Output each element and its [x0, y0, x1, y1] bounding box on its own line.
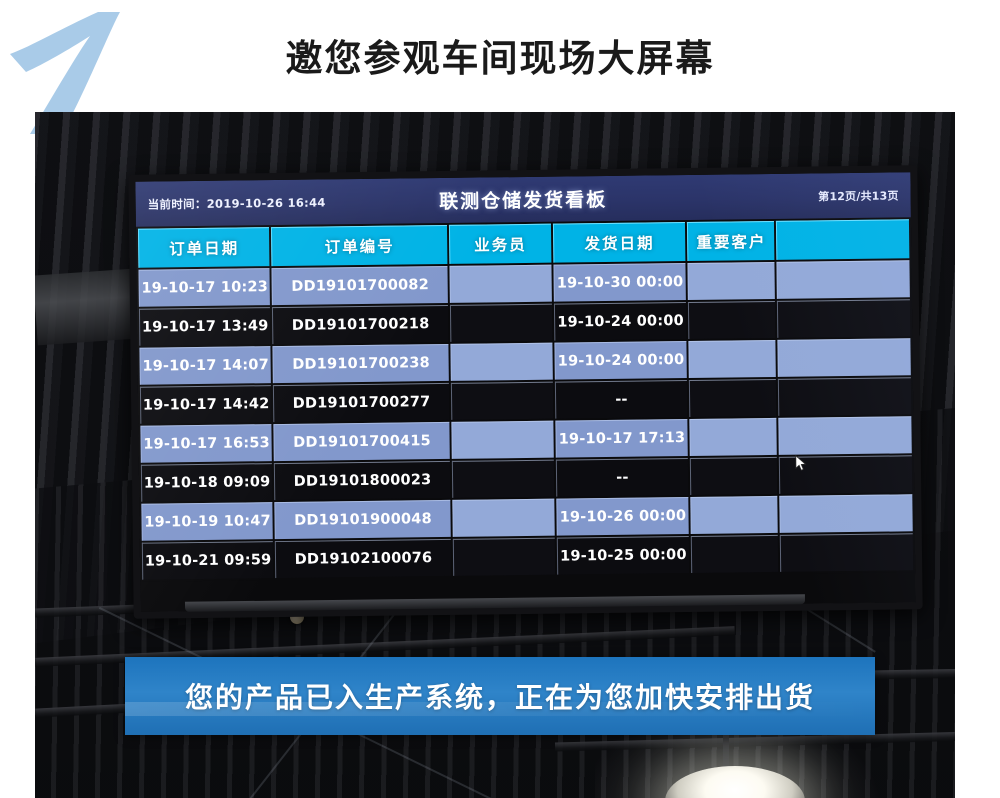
dashboard-header: 当前时间：2019-10-26 16:44 联测仓储发货看板 第12页/共13页 [135, 172, 910, 226]
mouse-cursor-icon [795, 455, 807, 472]
ceiling-lamp [645, 732, 825, 798]
cell-order-date: 19-10-17 16:53 [140, 424, 272, 463]
cell-salesperson [453, 538, 555, 576]
cell-order-no: DD19101700238 [272, 344, 448, 383]
column-header-ship-date[interactable]: 发货日期 [553, 222, 686, 263]
cell-order-date: 19-10-17 10:23 [138, 268, 270, 307]
cell-key-customer [691, 496, 779, 534]
cell-order-no: DD19101700082 [272, 266, 448, 305]
pagination-label: 第12页/共13页 [818, 187, 899, 204]
cell-key-customer [690, 457, 778, 495]
cell-salesperson [449, 265, 551, 303]
wall-mounted-tv: 当前时间：2019-10-26 16:44 联测仓储发货看板 第12页/共13页… [128, 165, 922, 619]
cell-salesperson [451, 421, 553, 459]
cell-extra [778, 377, 911, 416]
cell-order-no: DD19102100076 [275, 539, 451, 578]
column-header-extra[interactable] [776, 219, 909, 260]
column-header-key-customer[interactable]: 重要客户 [687, 221, 775, 261]
cell-extra [780, 533, 913, 572]
cell-ship-date: 19-10-26 00:00 [556, 497, 689, 536]
lamp-shade [665, 766, 805, 798]
cell-ship-date: 19-10-30 00:00 [553, 263, 686, 302]
cell-order-no: DD19101700277 [273, 383, 449, 422]
dashboard-screen: 当前时间：2019-10-26 16:44 联测仓储发货看板 第12页/共13页… [135, 172, 915, 611]
cell-order-date: 19-10-19 10:47 [141, 502, 273, 541]
workshop-photo: 当前时间：2019-10-26 16:44 联测仓储发货看板 第12页/共13页… [35, 112, 955, 798]
cell-ship-date: -- [555, 458, 688, 497]
promo-banner-text: 您的产品已入生产系统，正在为您加快安排出货 [185, 676, 815, 716]
cell-salesperson [450, 304, 552, 342]
cell-order-date: 19-10-17 13:49 [139, 307, 271, 346]
cell-extra [778, 338, 911, 377]
cell-order-date: 19-10-21 09:59 [142, 541, 274, 580]
cell-key-customer [688, 301, 776, 339]
shipment-table: 订单日期 订单编号 业务员 发货日期 重要客户 19-10-17 10:23 D… [136, 217, 915, 581]
cell-order-date: 19-10-18 09:09 [141, 463, 273, 502]
cell-order-date: 19-10-17 14:42 [140, 385, 272, 424]
cell-order-no: DD19101900048 [274, 500, 450, 539]
promo-banner: 您的产品已入生产系统，正在为您加快安排出货 [125, 657, 875, 735]
column-header-salesperson[interactable]: 业务员 [449, 224, 551, 264]
cell-ship-date: 19-10-25 00:00 [556, 536, 689, 575]
cell-order-date: 19-10-17 14:07 [139, 346, 271, 385]
cell-key-customer [689, 379, 777, 417]
table-row: 19-10-21 09:59 DD19102100076 19-10-25 00… [142, 533, 913, 579]
cell-ship-date: -- [554, 380, 687, 419]
cell-ship-date: 19-10-24 00:00 [554, 341, 687, 380]
page-title: 邀您参观车间现场大屏幕 [0, 28, 1000, 82]
cell-extra [780, 494, 913, 533]
cell-key-customer [689, 340, 777, 378]
column-header-order-date[interactable]: 订单日期 [138, 227, 270, 268]
cell-salesperson [451, 382, 553, 420]
cell-salesperson [452, 460, 554, 498]
cell-extra [777, 260, 910, 299]
cell-extra [777, 299, 910, 338]
table-header-row: 订单日期 订单编号 业务员 发货日期 重要客户 [138, 219, 909, 267]
cell-key-customer [690, 418, 778, 456]
cell-key-customer [691, 535, 779, 573]
cell-order-no: DD19101700415 [273, 422, 449, 461]
cell-salesperson [450, 343, 552, 381]
column-header-order-no[interactable]: 订单编号 [271, 225, 447, 266]
cell-order-no: DD19101800023 [274, 461, 450, 500]
cell-salesperson [452, 499, 554, 537]
cell-ship-date: 19-10-24 00:00 [554, 302, 687, 341]
cell-order-no: DD19101700218 [272, 305, 448, 344]
cell-key-customer [688, 262, 776, 300]
cell-extra [779, 416, 912, 455]
current-time-label: 当前时间：2019-10-26 16:44 [148, 194, 326, 212]
cell-ship-date: 19-10-17 17:13 [555, 419, 688, 458]
